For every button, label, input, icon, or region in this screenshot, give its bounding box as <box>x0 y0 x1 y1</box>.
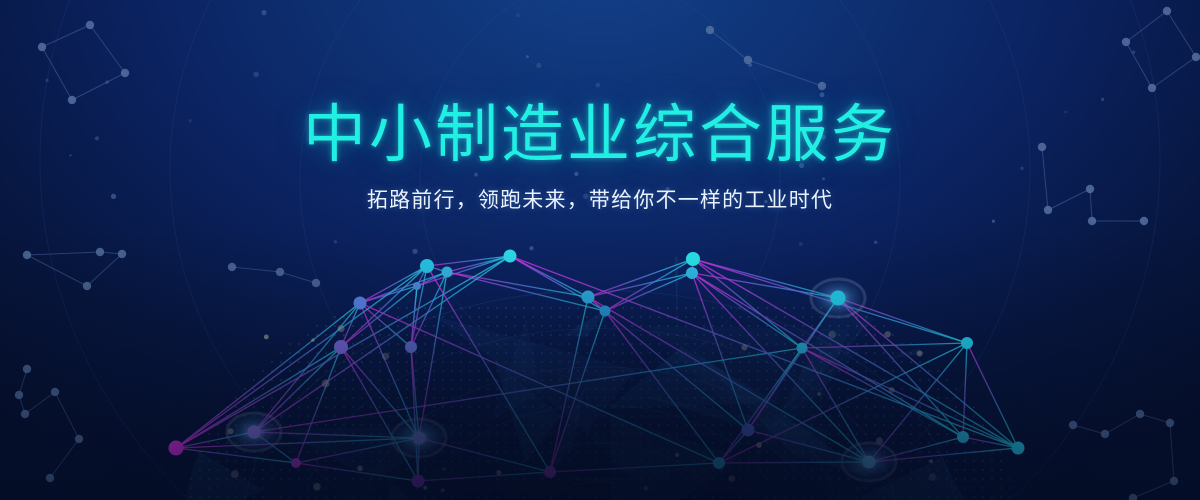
bottom-vignette <box>0 0 1200 500</box>
hero-banner: 中小制造业综合服务 拓路前行，领跑未来，带给你不一样的工业时代 <box>0 0 1200 500</box>
